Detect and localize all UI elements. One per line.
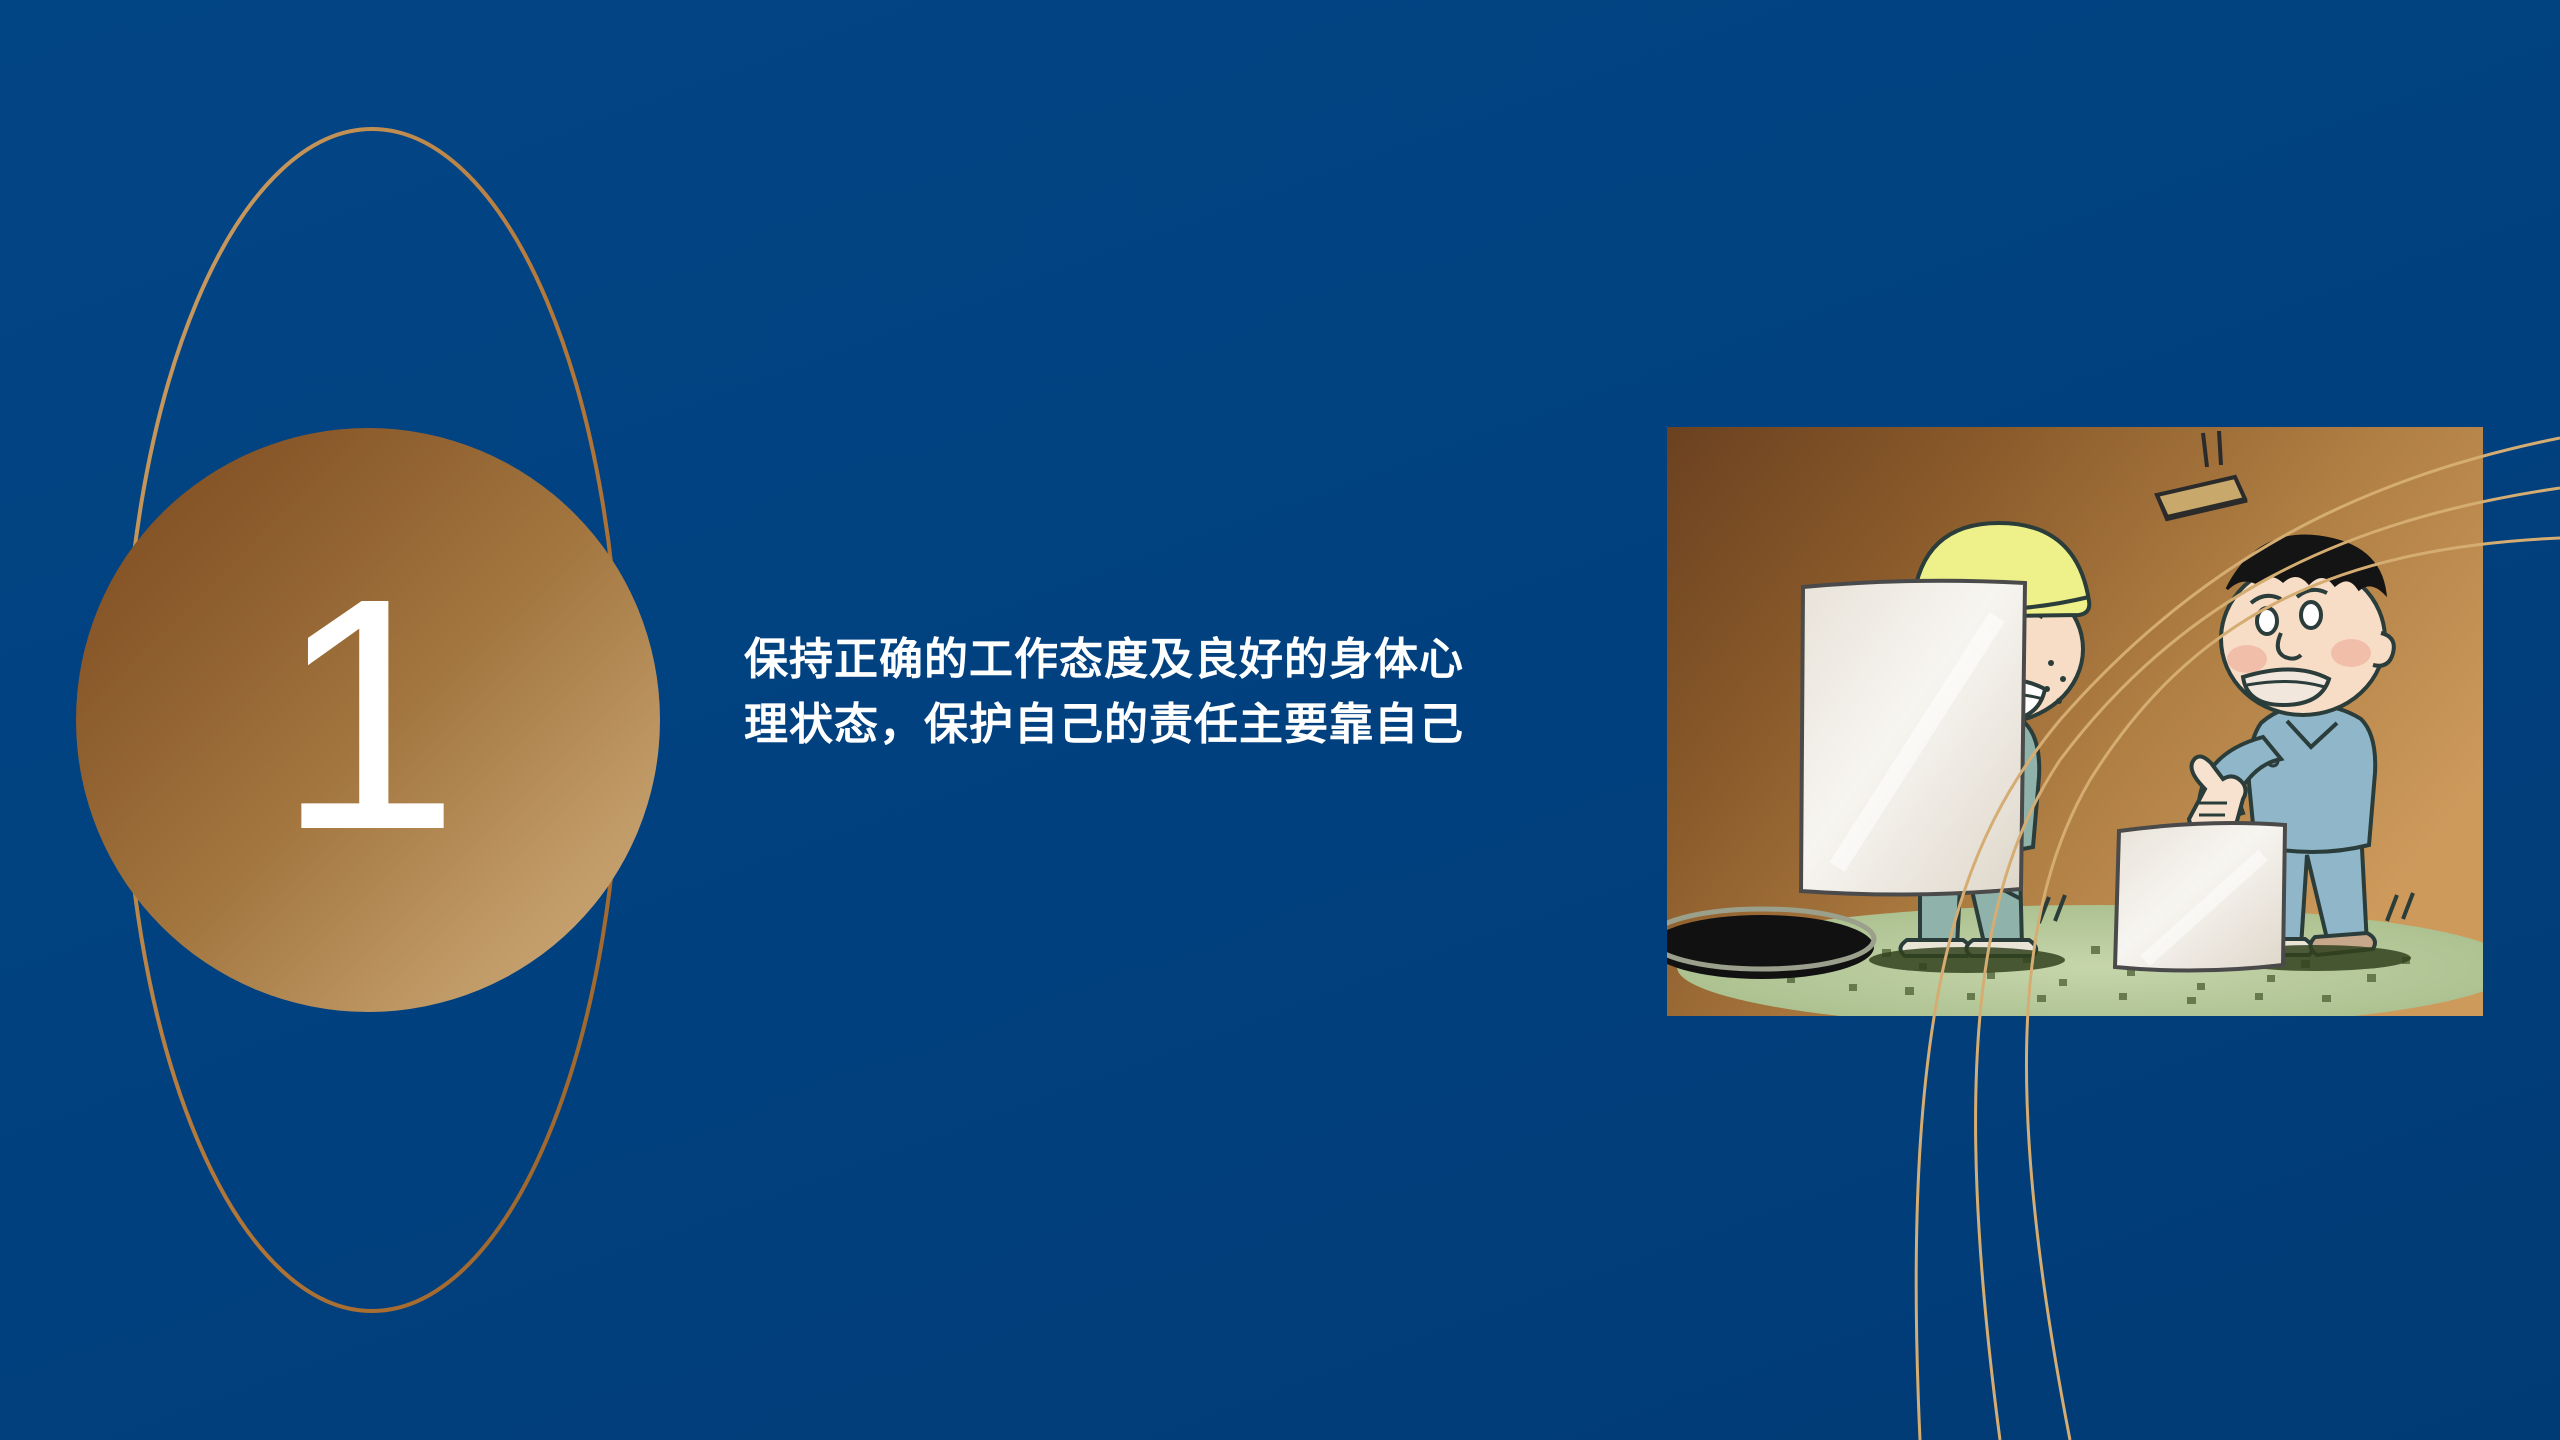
worker-left-foot-shadow — [1869, 947, 2065, 973]
headline-line-1: 保持正确的工作态度及良好的身体心 — [744, 627, 1664, 692]
illustration-artwork — [1667, 427, 2483, 1016]
headline-line-2: 理状态，保护自己的责任主要靠自己 — [744, 692, 1664, 757]
illustration-photo — [1667, 427, 2483, 1016]
slide-root: 0% 1 保持正确的工作态度及良好的身体心 理状态，保护自己的责任主要靠自己 — [0, 0, 2560, 1440]
board-right — [2115, 823, 2285, 971]
worker-right-eye-left — [2257, 608, 2277, 634]
board-left — [1801, 581, 2025, 895]
worker-right-cheek — [2227, 645, 2267, 673]
worker-right-cheek-2 — [2331, 639, 2371, 667]
headline-text: 保持正确的工作态度及良好的身体心 理状态，保护自己的责任主要靠自己 — [744, 627, 1664, 757]
number-badge-value: 1 — [76, 422, 660, 1006]
worker-right-eye-right — [2301, 602, 2321, 628]
